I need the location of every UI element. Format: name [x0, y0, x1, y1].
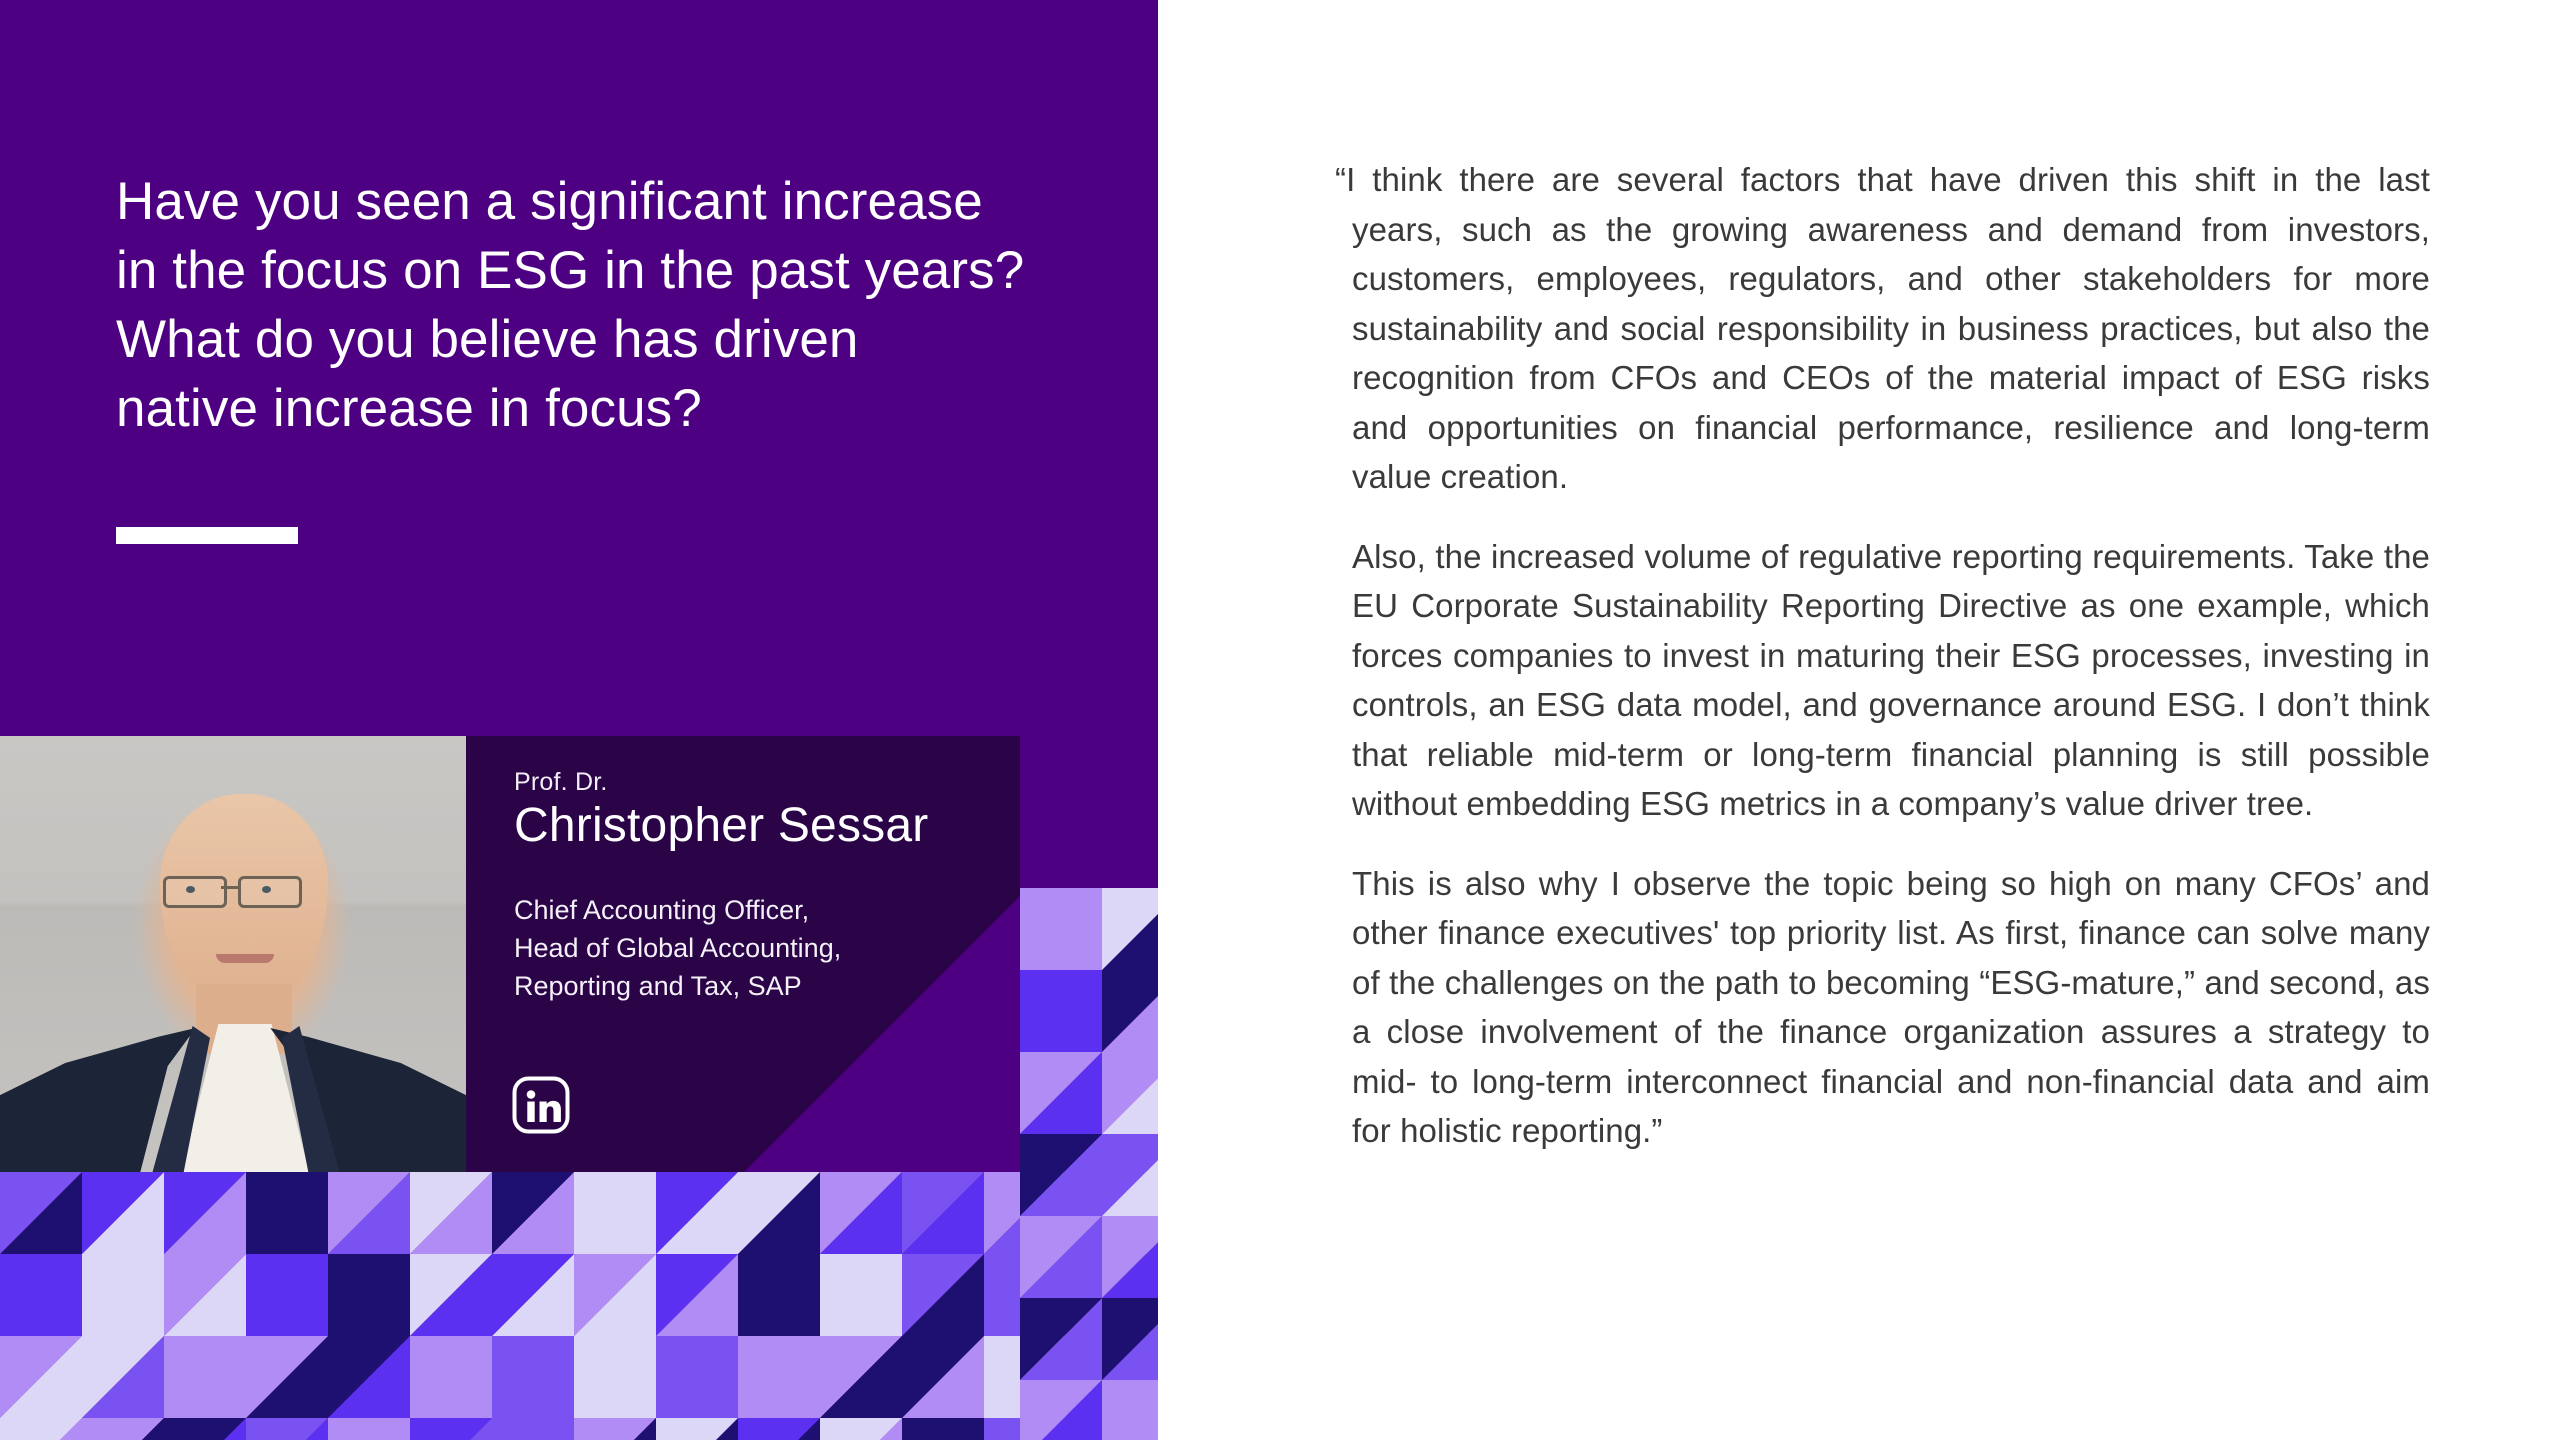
pattern-tile: [820, 1418, 902, 1440]
pattern-tile: [1102, 1298, 1158, 1380]
pattern-tile: [410, 1336, 492, 1418]
pattern-tile: [492, 1172, 574, 1254]
pattern-tile: [0, 1254, 82, 1336]
pattern-tile: [574, 1418, 656, 1440]
pattern-tile: [1020, 1134, 1102, 1216]
quote-paragraph-3: This is also why I observe the topic bei…: [1352, 859, 2430, 1156]
pattern-tile: [1102, 888, 1158, 970]
accent-divider: [116, 527, 298, 544]
speaker-role-line-3: Reporting and Tax, SAP: [514, 968, 841, 1006]
pattern-tile: [1020, 888, 1102, 970]
heading-line-4: native increase in focus?: [116, 375, 1076, 444]
pattern-tile: [1020, 970, 1102, 1052]
pattern-tile: [738, 1418, 820, 1440]
heading-line-1: Have you seen a significant increase: [116, 168, 1076, 237]
pattern-tile: [738, 1336, 820, 1418]
pattern-tile: [328, 1418, 410, 1440]
pattern-tile: [656, 1172, 738, 1254]
left-purple-panel: Have you seen a significant increase in …: [0, 0, 1158, 1440]
pattern-tile: [820, 1172, 902, 1254]
pattern-tile: [492, 1254, 574, 1336]
pattern-tile: [902, 1336, 984, 1418]
pattern-tile: [820, 1254, 902, 1336]
pattern-tile: [902, 1172, 984, 1254]
glasses-right-lens: [238, 876, 302, 908]
pattern-tile: [492, 1336, 574, 1418]
pattern-tile: [164, 1418, 246, 1440]
pattern-tile: [410, 1172, 492, 1254]
pattern-tile: [574, 1254, 656, 1336]
pattern-tile: [0, 1418, 82, 1440]
pattern-tile: [656, 1336, 738, 1418]
glasses-bridge: [221, 886, 238, 889]
pattern-tile: [0, 1336, 82, 1418]
quote-paragraph-1: “I think there are several factors that …: [1352, 155, 2430, 502]
heading-line-2: in the focus on ESG in the past years?: [116, 237, 1076, 306]
pattern-tile: [1102, 970, 1158, 1052]
pattern-tile: [328, 1254, 410, 1336]
pattern-tile: [1020, 1298, 1102, 1380]
speaker-role: Chief Accounting Officer, Head of Global…: [514, 892, 841, 1005]
pattern-tile: [574, 1336, 656, 1418]
pattern-tile: [82, 1336, 164, 1418]
pattern-tile: [246, 1254, 328, 1336]
avatar: [0, 736, 466, 1172]
speaker-name: Christopher Sessar: [514, 798, 928, 853]
pattern-tile: [902, 1418, 984, 1440]
pattern-tile: [1020, 1216, 1102, 1298]
pattern-tile: [1102, 1052, 1158, 1134]
linkedin-icon[interactable]: [512, 1075, 570, 1135]
geometric-pattern-right: [1020, 888, 1158, 1440]
glasses-left-lens: [163, 876, 227, 908]
portrait-eye-left: [186, 886, 195, 893]
pattern-tile: [738, 1254, 820, 1336]
pattern-tile: [328, 1336, 410, 1418]
pattern-tile: [492, 1418, 574, 1440]
quote-column: “I think there are several factors that …: [1352, 155, 2430, 1156]
pattern-tile: [1102, 1380, 1158, 1440]
slide-root: Have you seen a significant increase in …: [0, 0, 2560, 1440]
pattern-tile: [410, 1254, 492, 1336]
pattern-tile: [82, 1172, 164, 1254]
pattern-tile: [328, 1172, 410, 1254]
portrait-eye-right: [262, 886, 271, 893]
pattern-tile: [410, 1418, 492, 1440]
pattern-tile: [902, 1254, 984, 1336]
pattern-tile: [738, 1172, 820, 1254]
pattern-tile: [82, 1418, 164, 1440]
pattern-tile: [246, 1418, 328, 1440]
pattern-tile: [0, 1172, 82, 1254]
page-title: Have you seen a significant increase in …: [116, 168, 1076, 444]
pattern-tile: [656, 1418, 738, 1440]
pattern-tile: [1102, 1216, 1158, 1298]
pattern-tile: [1020, 1052, 1102, 1134]
quote-paragraph-2: Also, the increased volume of regulative…: [1352, 532, 2430, 829]
pattern-tile: [656, 1254, 738, 1336]
pattern-tile: [164, 1172, 246, 1254]
pattern-tile: [246, 1336, 328, 1418]
pattern-tile: [820, 1336, 902, 1418]
pattern-tile: [82, 1254, 164, 1336]
pattern-tile: [1102, 1134, 1158, 1216]
pattern-tile: [164, 1336, 246, 1418]
pattern-tile: [164, 1254, 246, 1336]
portrait-mouth: [216, 954, 274, 963]
speaker-role-line-2: Head of Global Accounting,: [514, 930, 841, 968]
speaker-title-prefix: Prof. Dr.: [514, 768, 608, 797]
pattern-tile: [574, 1172, 656, 1254]
speaker-role-line-1: Chief Accounting Officer,: [514, 892, 841, 930]
heading-line-3: What do you believe has driven: [116, 306, 1076, 375]
pattern-tile: [246, 1172, 328, 1254]
pattern-tile: [1020, 1380, 1102, 1440]
